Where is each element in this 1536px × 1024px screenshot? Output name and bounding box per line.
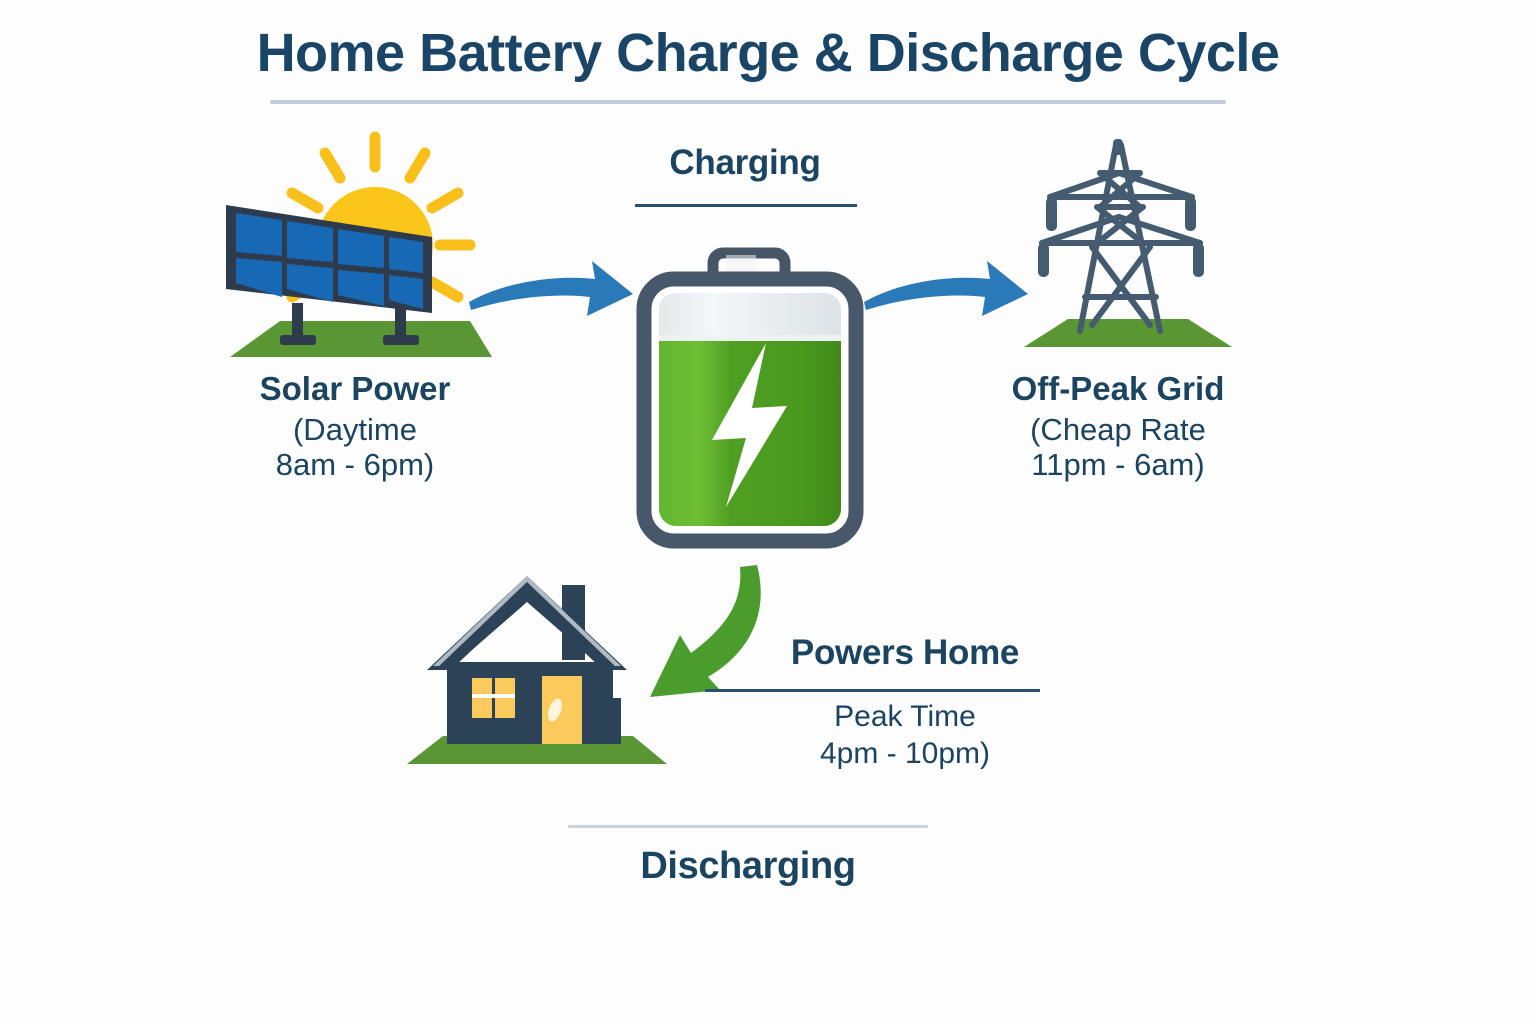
powers-home-sublabel: Peak Time 4pm - 10pm) <box>755 699 1055 772</box>
solar-label-sub-1: (Daytime <box>205 412 505 447</box>
charging-label-text: Charging <box>595 143 895 183</box>
grid-label-sub-2: 11pm - 6am) <box>968 447 1268 482</box>
discharging-footer-label: Discharging <box>548 845 948 888</box>
solar-panel-with-sun-icon <box>220 125 500 365</box>
battery-charging-icon <box>630 245 870 555</box>
solar-label-block: Solar Power (Daytime 8am - 6pm) <box>205 370 505 482</box>
curved-arrow-right-blue-left <box>463 252 638 332</box>
discharging-divider <box>568 825 928 828</box>
infographic-canvas: Home Battery Charge & Discharge Cycle <box>0 0 1536 1024</box>
powers-home-sub-2: 4pm - 10pm) <box>820 737 990 770</box>
powers-home-sub-1: Peak Time <box>834 700 976 733</box>
powers-home-label-text: Powers Home <box>755 633 1055 673</box>
grid-label-block: Off-Peak Grid (Cheap Rate 11pm - 6am) <box>968 370 1268 482</box>
powers-home-flow-label: Powers Home <box>755 633 1055 673</box>
house-icon <box>405 558 670 788</box>
grid-label-sub-1: (Cheap Rate <box>968 412 1268 447</box>
solar-label-main: Solar Power <box>205 370 505 408</box>
charging-flow-label: Charging <box>595 143 895 183</box>
title-divider <box>270 100 1226 104</box>
powers-home-label-underline <box>705 689 1040 692</box>
solar-label-sub-2: 8am - 6pm) <box>205 447 505 482</box>
page-title: Home Battery Charge & Discharge Cycle <box>0 22 1536 84</box>
charging-label-underline <box>635 204 857 207</box>
transmission-tower-icon <box>1020 125 1235 355</box>
grid-label-main: Off-Peak Grid <box>968 370 1268 408</box>
curved-arrow-right-blue-right <box>858 252 1033 332</box>
